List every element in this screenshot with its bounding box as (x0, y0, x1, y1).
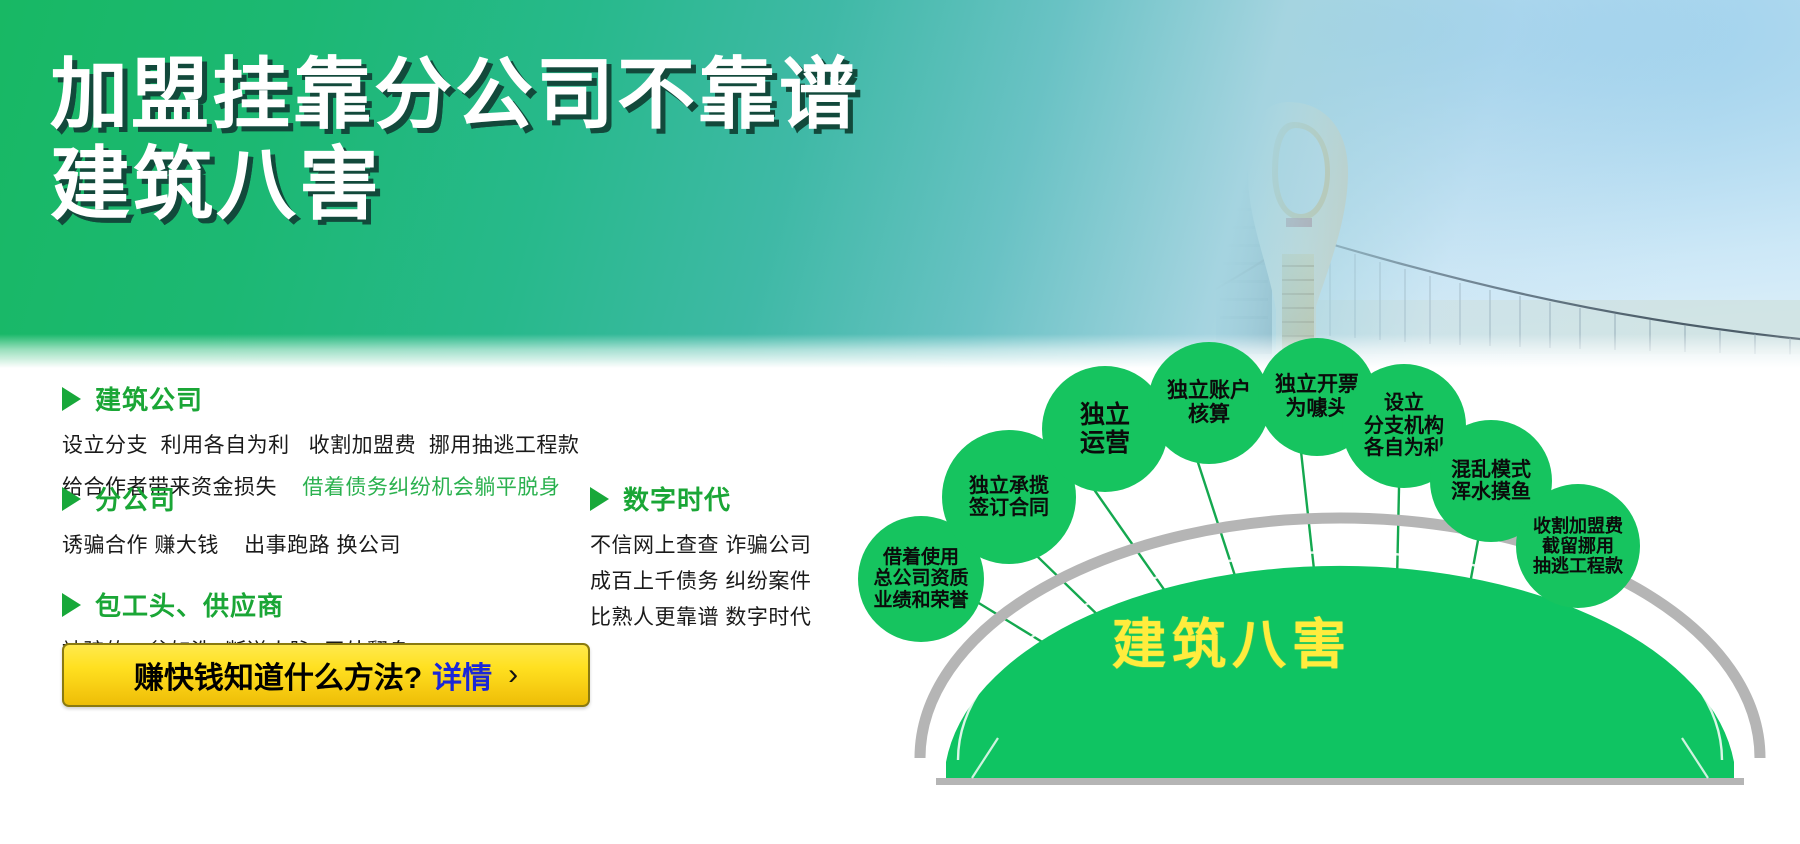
hero-title-line-2: 建筑八害 (50, 143, 860, 226)
section-title: 建筑公司 (95, 380, 203, 417)
section-branch-company: 分公司 诱骗合作 赚大钱 出事跑路 换公司 (62, 480, 582, 559)
section-line: 比熟人更靠谱 数字时代 (590, 601, 870, 631)
bubble-text: 独立账户 核算 (1167, 379, 1251, 426)
section-header: 建筑公司 (62, 380, 682, 417)
hero-title-line-1: 加盟挂靠分公司不靠谱 (50, 54, 860, 135)
dome-label: 建筑八害 (1112, 600, 1352, 679)
section-header: 数字时代 (590, 480, 870, 517)
section-line: 不信网上查查 诈骗公司 (590, 529, 870, 559)
dome-base-line (936, 778, 1744, 785)
section-title: 数字时代 (623, 480, 731, 517)
chevron-right-icon: › (508, 660, 518, 690)
bubble-b3[interactable]: 独立 运营 (1042, 366, 1168, 492)
hero-banner: 加盟挂靠分公司不靠谱 建筑八害 (0, 0, 1800, 368)
triangle-bullet-icon (62, 593, 81, 617)
bubble-text: 混乱模式 浑水摸鱼 (1451, 459, 1531, 504)
triangle-bullet-icon (62, 387, 81, 411)
left-content-column: 建筑公司 设立分支 利用各自为利 收割加盟费 挪用抽逃工程款 给合作者带来资金损… (0, 368, 860, 844)
bubble-text: 设立 分支机构 各自为利 (1364, 392, 1444, 459)
section-header: 包工头、供应商 (62, 586, 622, 623)
bubble-text: 借着使用 总公司资质 业绩和荣誉 (873, 547, 968, 611)
section-line: 设立分支 利用各自为利 收割加盟费 挪用抽逃工程款 (62, 429, 682, 459)
cta-main-label: 赚快钱知道什么方法? (134, 653, 422, 697)
bubble-text: 独立承揽 签订合同 (969, 475, 1049, 520)
bubble-text: 收割加盟费 截留挪用 抽逃工程款 (1533, 516, 1623, 576)
section-digital-era: 数字时代 不信网上查查 诈骗公司 成百上千债务 纠纷案件 比熟人更靠谱 数字时代 (590, 480, 870, 631)
section-line: 成百上千债务 纠纷案件 (590, 565, 870, 595)
section-line: 诱骗合作 赚大钱 出事跑路 换公司 (62, 529, 582, 559)
bubble-diagram: 借着使用 总公司资质 业绩和荣誉 独立承揽 签订合同 独立 运营 独立账户 核算 (880, 338, 1800, 844)
cta-button[interactable]: 赚快钱知道什么方法? 详情 › (62, 643, 590, 707)
hero-title: 加盟挂靠分公司不靠谱 建筑八害 (50, 54, 860, 226)
triangle-bullet-icon (62, 487, 81, 511)
cta-detail-link[interactable]: 详情 (432, 653, 492, 697)
poster-root: 加盟挂靠分公司不靠谱 建筑八害 建筑公司 设立分支 利用各自为利 收割加盟费 挪… (0, 0, 1800, 844)
triangle-bullet-icon (590, 487, 609, 511)
section-title: 包工头、供应商 (95, 586, 284, 623)
section-header: 分公司 (62, 480, 582, 517)
bubble-text: 独立 运营 (1080, 401, 1130, 457)
section-title: 分公司 (95, 480, 176, 517)
bubble-b4[interactable]: 独立账户 核算 (1148, 342, 1270, 464)
bubble-b8[interactable]: 收割加盟费 截留挪用 抽逃工程款 (1516, 484, 1640, 608)
